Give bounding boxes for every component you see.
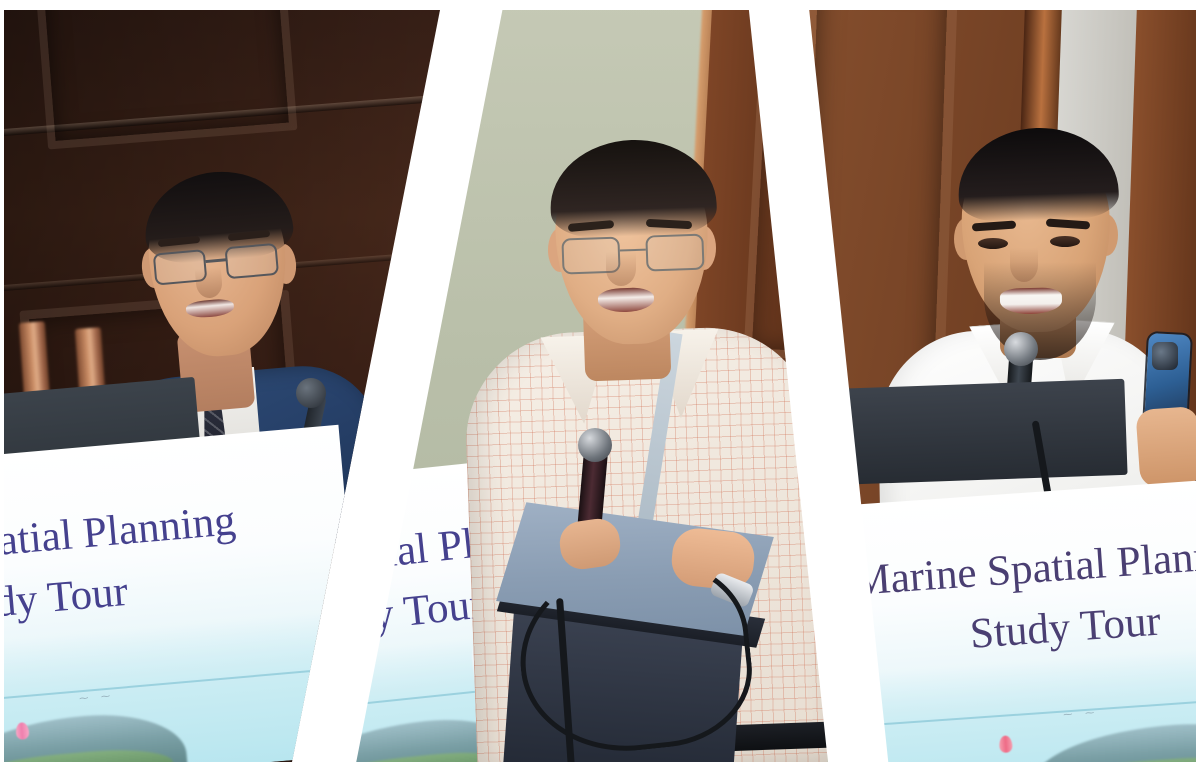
glasses-lens-right: [645, 234, 704, 272]
microphone-icon: [296, 378, 326, 408]
speaker-3-eye-right: [1050, 236, 1080, 247]
glasses-lens-right: [224, 243, 279, 279]
frame-edge-top: [0, 0, 1200, 10]
frame-edge-right: [1196, 0, 1200, 768]
speaker-3-eye-left: [978, 238, 1008, 249]
microphone-icon: [1004, 332, 1038, 366]
microphone-icon: [578, 428, 612, 462]
wood-panel-moulding: [33, 0, 298, 149]
speaker-2-nose: [606, 252, 636, 286]
glasses-bridge: [206, 258, 228, 262]
speaker-3-hand-holding-phone: [1135, 406, 1200, 488]
frame-edge-left: [0, 0, 4, 768]
photo-collage: ⁓ ⁓ Marine Spatial Planning Study Tour: [0, 0, 1200, 768]
phone-camera-icon: [1152, 342, 1178, 370]
frame-edge-bottom: [0, 763, 1200, 768]
laptop-screen: [824, 379, 1127, 485]
speaker-3-nose: [1010, 248, 1038, 282]
